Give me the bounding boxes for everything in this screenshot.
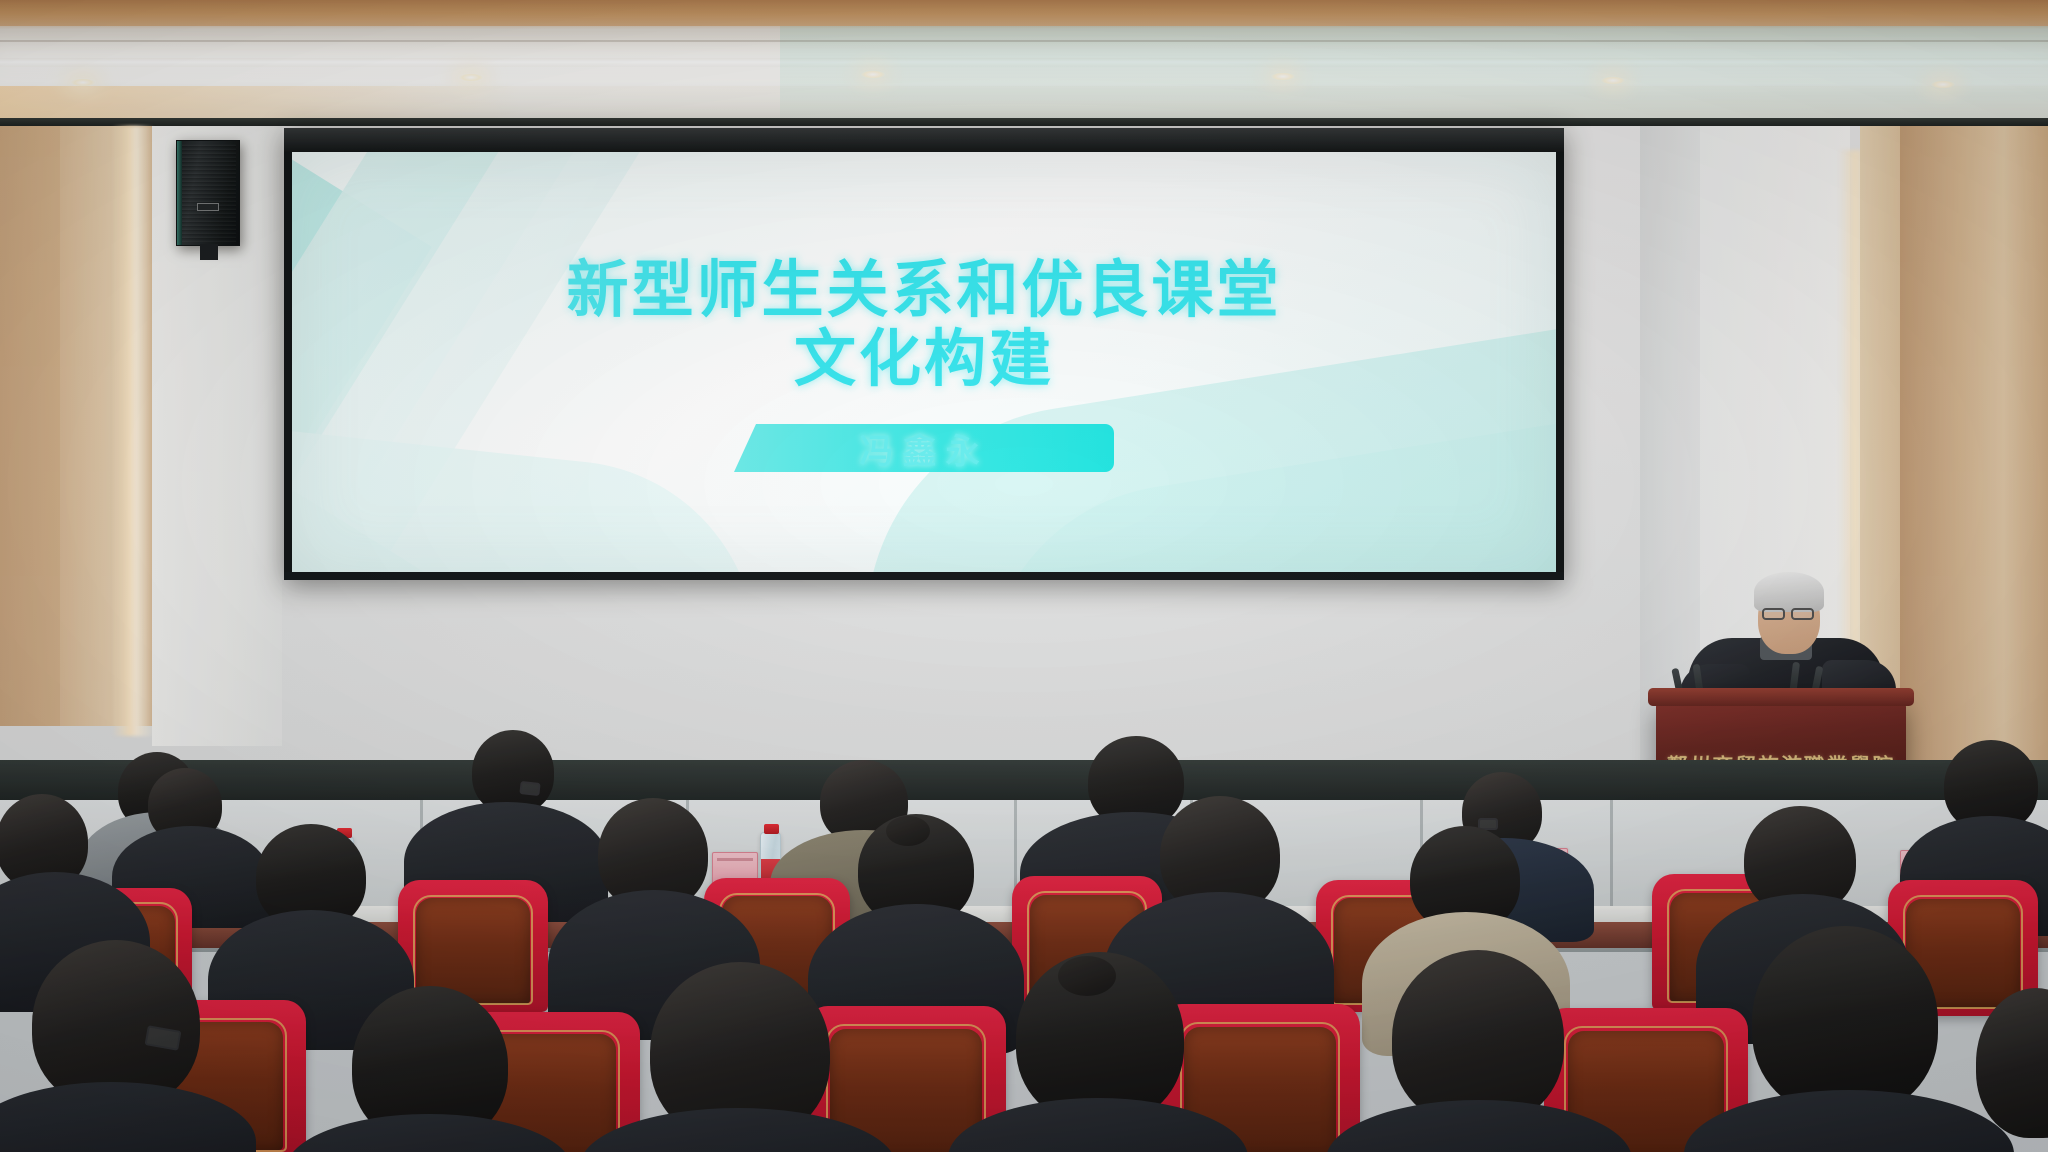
speaker-grille <box>180 144 236 242</box>
left-wall-light-strip <box>112 126 154 736</box>
downlight-icon <box>1930 80 1956 89</box>
screen-top-bar <box>284 128 1564 152</box>
downlight-icon <box>860 70 886 79</box>
screen-left-edge <box>284 152 292 572</box>
speaker-logo-icon <box>197 203 219 211</box>
presenter-glasses-icon <box>1791 608 1814 620</box>
hair-bun <box>1058 956 1116 996</box>
audience-glasses-icon <box>519 781 540 796</box>
slide-title-line-2: 文化构建 <box>292 325 1556 394</box>
downlight-icon <box>1270 72 1296 81</box>
projection-screen-frame: 新型师生关系和优良课堂 文化构建 冯鑫永 <box>284 128 1564 580</box>
bottle-cap <box>764 824 779 834</box>
presentation-slide: 新型师生关系和优良课堂 文化构建 冯鑫永 <box>292 152 1556 572</box>
right-wood-wall-panel <box>1900 126 2048 766</box>
presenter-name: 冯鑫永 <box>860 424 989 473</box>
downlight-icon <box>1600 76 1626 85</box>
slide-title-line-1: 新型师生关系和优良课堂 <box>566 256 1281 325</box>
screen-right-edge <box>1556 152 1564 572</box>
audience-head <box>1752 926 1938 1116</box>
ceiling-green-tint <box>780 26 2048 130</box>
presenter-glasses-icon <box>1762 608 1785 620</box>
podium-top-surface <box>1648 688 1914 706</box>
left-wall-speaker <box>176 140 240 246</box>
auditorium-photo: 新型师生关系和优良课堂 文化构建 冯鑫永 鄭州商貿旅游職業學院 <box>0 0 2048 1152</box>
presenter-name-badge: 冯鑫永 <box>734 424 1114 472</box>
slide-title: 新型师生关系和优良课堂 文化构建 <box>292 256 1556 395</box>
speaker-edge <box>177 141 182 245</box>
left-speaker-mount <box>200 244 218 260</box>
downlight-icon <box>458 73 484 82</box>
downlight-icon <box>70 78 96 87</box>
ceiling-wood-beam <box>0 0 2048 26</box>
presenter-badge-wrapper: 冯鑫永 <box>292 424 1556 472</box>
hair-bun <box>886 816 930 846</box>
presenter-hair <box>1754 572 1824 612</box>
ceiling <box>0 0 2048 132</box>
